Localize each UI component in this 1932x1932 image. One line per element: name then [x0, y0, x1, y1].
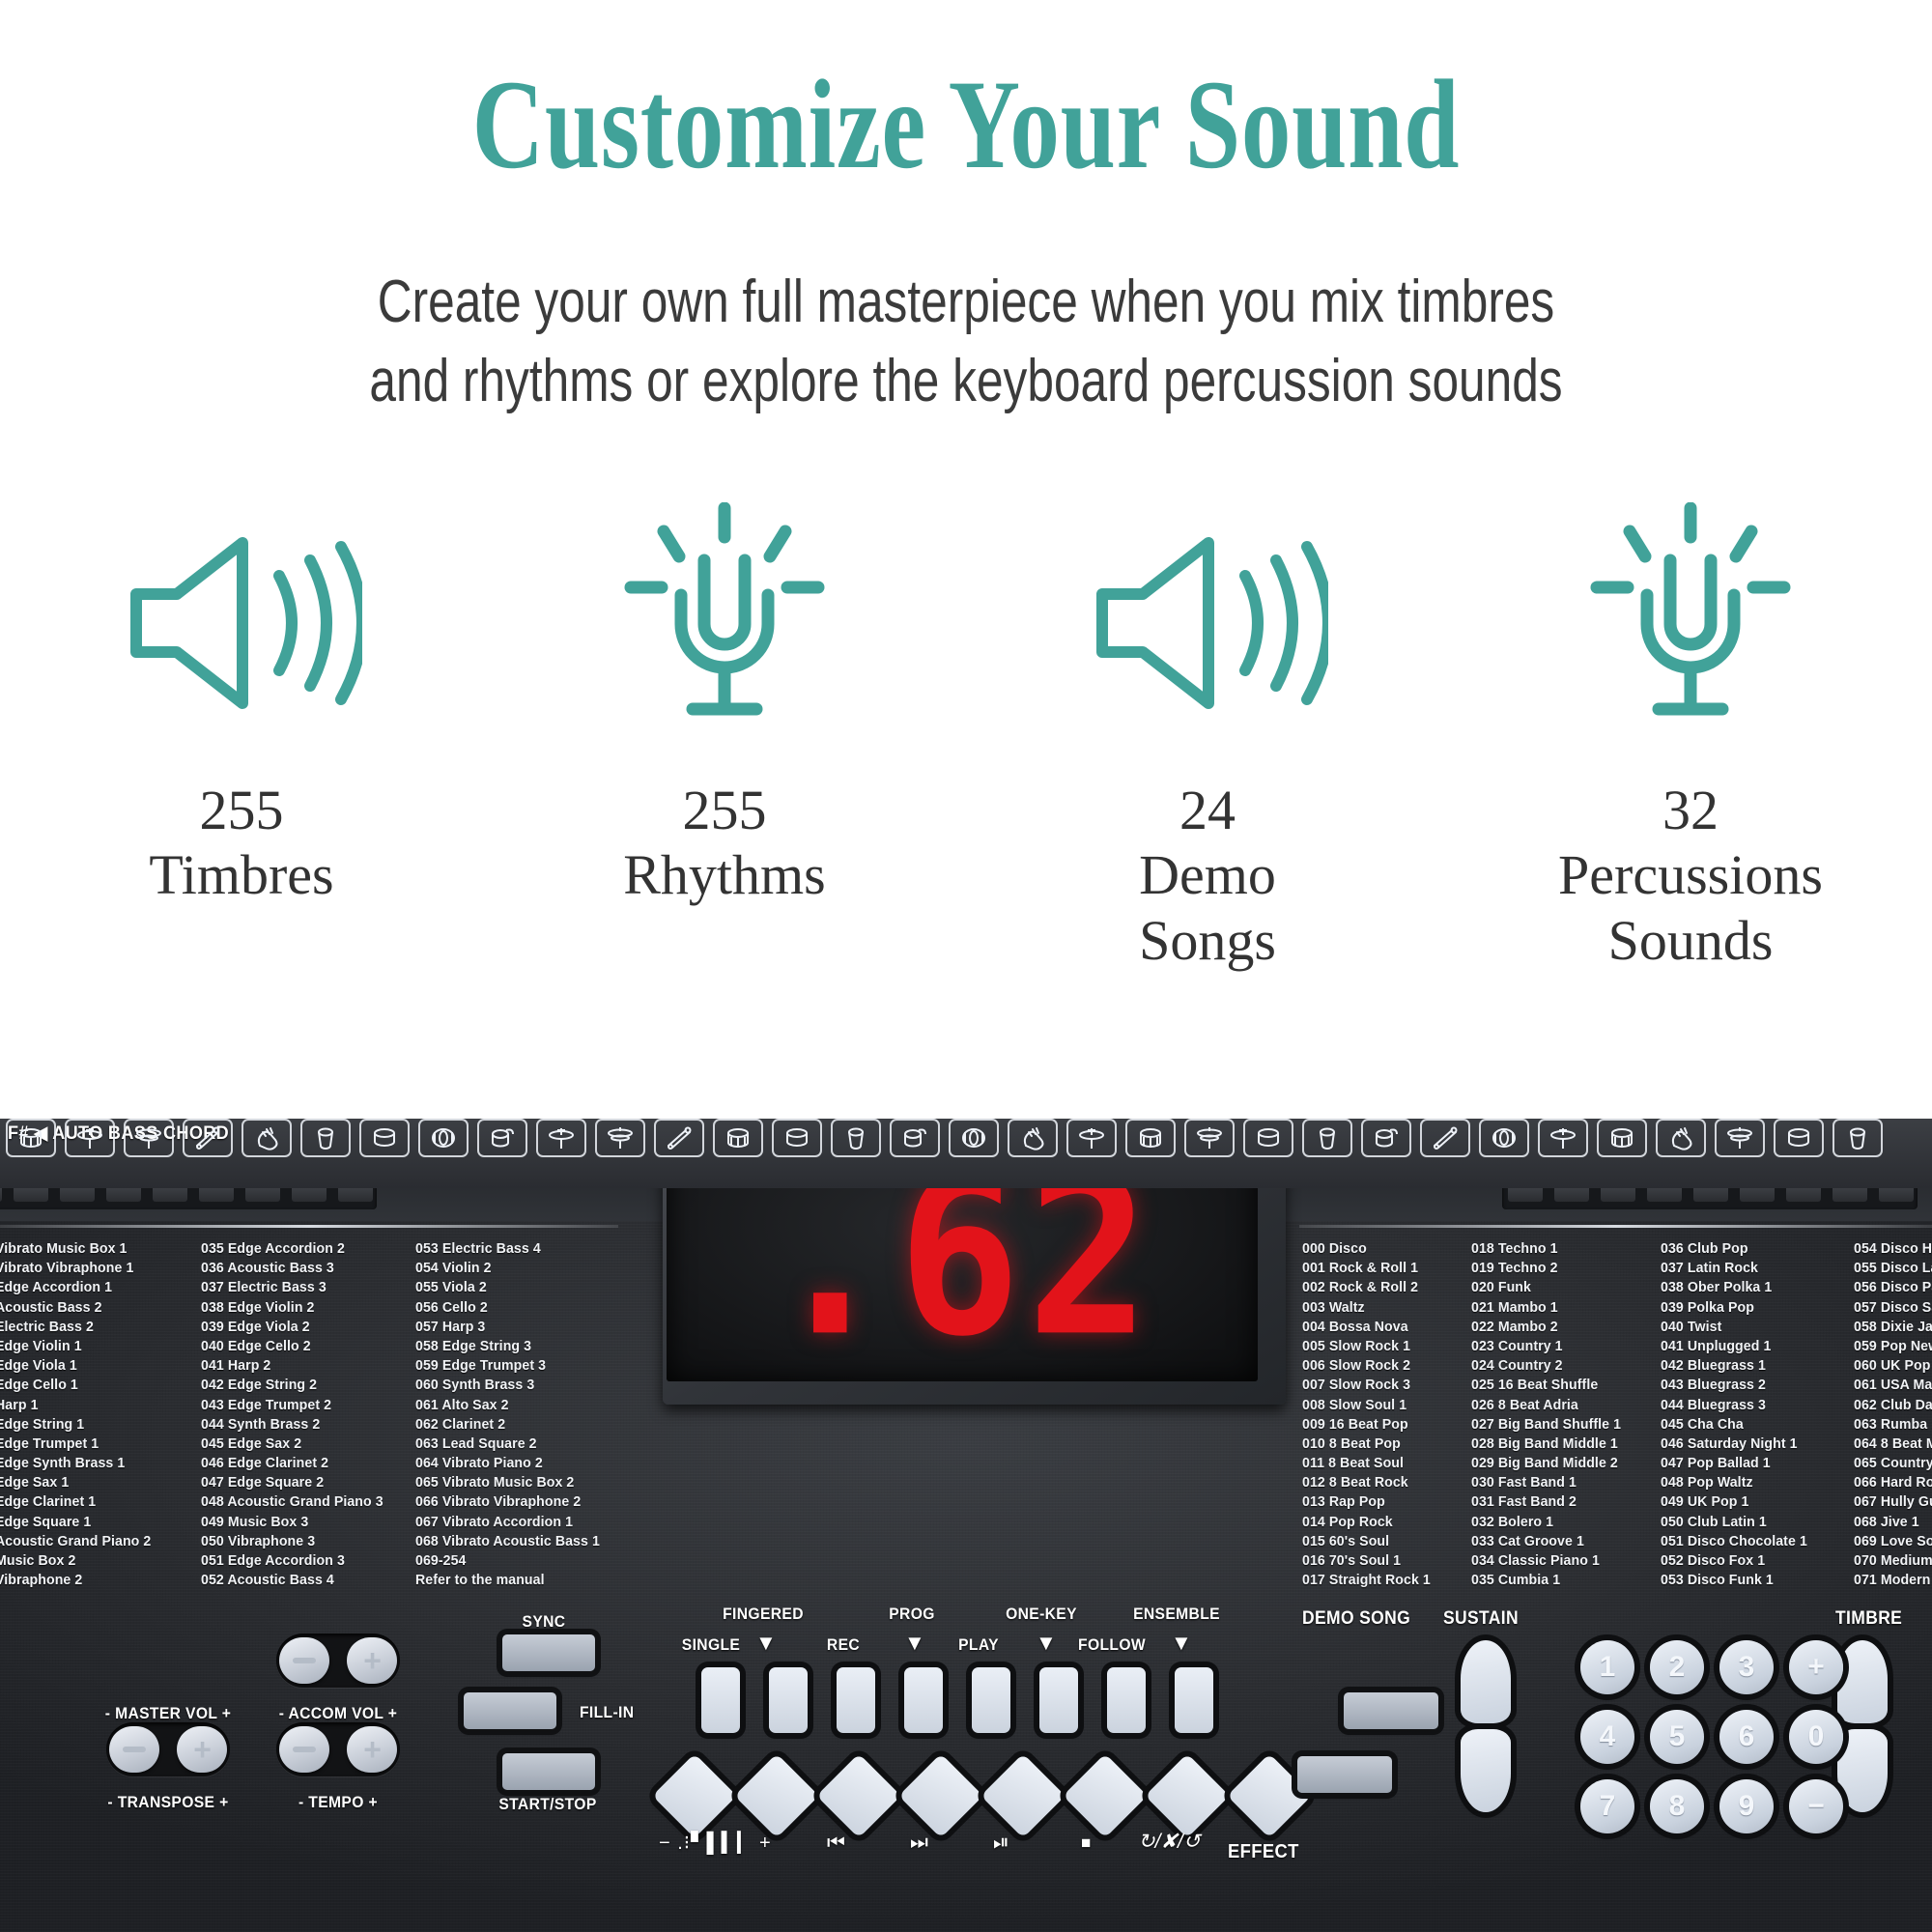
rhythm-entry: 064 8 Beat Modern 1 — [1854, 1435, 1932, 1454]
rhythm-entry: 030 Fast Band 1 — [1471, 1473, 1647, 1492]
play-pause-icon: ⏯ — [993, 1833, 1009, 1853]
sustain-down-button[interactable] — [1461, 1729, 1511, 1812]
timbre-entry: Edge Violin 1 — [0, 1337, 186, 1356]
timbre-entry: Edge Viola 1 — [0, 1356, 186, 1376]
timbre-entry: Acoustic Bass 2 — [0, 1298, 186, 1318]
tom-drum-icon[interactable] — [359, 1119, 410, 1157]
snare-drum-icon[interactable] — [713, 1119, 763, 1157]
conga-icon[interactable] — [300, 1119, 351, 1157]
cymbal-icon[interactable] — [1066, 1119, 1117, 1157]
timbre-entry: 039 Edge Viola 2 — [201, 1318, 400, 1337]
rhythm-entry: 003 Waltz — [1302, 1298, 1460, 1318]
rhythm-entry: 061 USA March 1 — [1854, 1376, 1932, 1395]
timbre-entry: 049 Music Box 3 — [201, 1513, 400, 1532]
feature-label: Demo Songs — [1139, 842, 1276, 973]
rhythm-column: 054 Disco Hands 1055 Disco Latin 1056 Di… — [1854, 1239, 1932, 1590]
cymbal-icon[interactable] — [65, 1119, 115, 1157]
rhythm-entry: 058 Dixie Jazz 1 — [1854, 1318, 1932, 1337]
timbre-entry: 046 Edge Clarinet 2 — [201, 1454, 400, 1473]
chevron-down-icon: ▼ — [904, 1633, 925, 1654]
mode-label-single: SINGLE — [682, 1635, 740, 1655]
rhythm-entry: 013 Rap Pop — [1302, 1492, 1460, 1512]
timbre-entry: 042 Edge String 2 — [201, 1376, 400, 1395]
rhythm-entry: 031 Fast Band 2 — [1471, 1492, 1647, 1512]
timbre-entry: 062 Clarinet 2 — [415, 1415, 622, 1435]
cymbal-icon[interactable] — [1538, 1119, 1588, 1157]
numeric-key-label: 6 — [1739, 1720, 1755, 1753]
snare-drum-icon[interactable] — [1125, 1119, 1176, 1157]
rhythm-entry: 052 Disco Fox 1 — [1661, 1551, 1840, 1571]
previous-track-button[interactable] — [816, 1753, 901, 1838]
timbre-entry: Edge Clarinet 1 — [0, 1492, 186, 1512]
rhythm-entry: 056 Disco Party 1 — [1854, 1278, 1932, 1297]
percussion-icon-strip — [0, 1119, 1932, 1159]
rhythm-entry: 024 Country 2 — [1471, 1356, 1647, 1376]
rhythm-entry: 046 Saturday Night 1 — [1661, 1435, 1840, 1454]
numeric-key-6[interactable]: 6 — [1719, 1710, 1774, 1764]
start-stop-button[interactable] — [502, 1753, 595, 1790]
rhythm-entry: 021 Mambo 1 — [1471, 1298, 1647, 1318]
rhythm-column: 000 Disco001 Rock & Roll 1002 Rock & Rol… — [1302, 1239, 1460, 1590]
mode-button-rec[interactable] — [837, 1667, 875, 1733]
rhythm-entry: 071 Modern Country 1 — [1854, 1571, 1932, 1590]
numeric-key-4[interactable]: 4 — [1580, 1710, 1634, 1764]
timbre-label: TIMBRE — [1835, 1608, 1902, 1630]
hi-hat-icon[interactable] — [124, 1119, 174, 1157]
mode-button-prog[interactable] — [904, 1667, 943, 1733]
next-track-button[interactable] — [898, 1753, 983, 1838]
rhythm-entry: 002 Rock & Roll 2 — [1302, 1278, 1460, 1297]
panel-hairline-left — [0, 1225, 618, 1228]
mode-button-play[interactable] — [972, 1667, 1010, 1733]
rhythm-list-panel: 000 Disco001 Rock & Roll 1002 Rock & Rol… — [1302, 1239, 1932, 1590]
hand-clap-icon[interactable] — [1008, 1119, 1058, 1157]
snare-drum-icon[interactable] — [1597, 1119, 1647, 1157]
feature-count: 255 — [683, 778, 767, 842]
rhythm-entry: 023 Country 1 — [1471, 1337, 1647, 1356]
numeric-key-0[interactable]: 0 — [1789, 1710, 1843, 1764]
timbre-entry: 044 Synth Brass 2 — [201, 1415, 400, 1435]
timbre-entry: 055 Viola 2 — [415, 1278, 622, 1297]
hi-hat-icon[interactable] — [1715, 1119, 1765, 1157]
rhythm-entry: 034 Classic Piano 1 — [1471, 1551, 1647, 1571]
numeric-key-1[interactable]: 1 — [1580, 1640, 1634, 1694]
rhythm-entry: 028 Big Band Middle 1 — [1471, 1435, 1647, 1454]
timbre-down-button[interactable] — [1837, 1729, 1888, 1812]
bongo-icon[interactable] — [890, 1119, 940, 1157]
timbre-entry: Refer to the manual — [415, 1571, 622, 1590]
timbre-entry: 054 Violin 2 — [415, 1259, 622, 1278]
feature-item-demo-songs: 24 Demo Songs — [1000, 502, 1415, 973]
rhythm-entry: 066 Hard Rock 1 — [1854, 1473, 1932, 1492]
mode-label-prog: PROG — [889, 1605, 935, 1624]
start-stop-label: START/STOP — [498, 1795, 596, 1814]
rhythm-column: 018 Techno 1019 Techno 2020 Funk021 Mamb… — [1471, 1239, 1647, 1590]
accom-vol-rocker[interactable] — [276, 1634, 400, 1688]
chevron-down-icon: ▼ — [755, 1633, 777, 1654]
accom-vol-label: - ACCOM VOL + — [279, 1704, 398, 1723]
stick-icon[interactable] — [183, 1119, 233, 1157]
conga-icon[interactable] — [1833, 1119, 1883, 1157]
numeric-key-label: 8 — [1669, 1790, 1686, 1823]
rhythm-entry: 045 Cha Cha — [1661, 1415, 1840, 1435]
previous-track-icon: ⏮ — [827, 1833, 845, 1853]
numeric-key-3[interactable]: 3 — [1719, 1640, 1774, 1694]
tambourine-icon[interactable] — [418, 1119, 469, 1157]
numeric-key-label: 9 — [1739, 1790, 1755, 1823]
keyboard-photo: Vibrato Music Box 1Vibrato Vibraphone 1E… — [0, 1119, 1932, 1932]
rhythm-entry: 047 Pop Ballad 1 — [1661, 1454, 1840, 1473]
rhythm-entry: 059 Pop New Age 1 — [1854, 1337, 1932, 1356]
keyboard-percussion-button[interactable] — [1297, 1756, 1392, 1793]
feature-count: 24 — [1179, 778, 1236, 842]
feature-label: Rhythms — [623, 842, 826, 907]
timbre-column: 035 Edge Accordion 2036 Acoustic Bass 30… — [201, 1239, 400, 1590]
feature-label: Timbres — [149, 842, 333, 907]
timbre-entry: Edge Cello 1 — [0, 1376, 186, 1395]
rhythm-entry: 041 Unplugged 1 — [1661, 1337, 1840, 1356]
timbre-entry: 064 Vibrato Piano 2 — [415, 1454, 622, 1473]
panel-hairline-right — [1299, 1225, 1932, 1228]
microphone-icon — [604, 502, 845, 744]
timbre-entry: 059 Edge Trumpet 3 — [415, 1356, 622, 1376]
hero-section: Customize Your Sound Create your own ful… — [0, 0, 1932, 1119]
rhythm-entry: 019 Techno 2 — [1471, 1259, 1647, 1278]
timbre-entry: Vibrato Music Box 1 — [0, 1239, 186, 1259]
timbre-entry: 052 Acoustic Bass 4 — [201, 1571, 400, 1590]
master-vol-label: - MASTER VOL + — [105, 1704, 231, 1723]
timbre-entry: Vibrato Vibraphone 1 — [0, 1259, 186, 1278]
fill-in-label: FILL-IN — [580, 1703, 634, 1722]
timbre-entry: 038 Edge Violin 2 — [201, 1298, 400, 1318]
numeric-key-label: 0 — [1808, 1720, 1825, 1753]
rhythm-entry: 022 Mambo 2 — [1471, 1318, 1647, 1337]
stop-icon: ■ — [1081, 1834, 1091, 1851]
mode-label-one-key: ONE-KEY — [1006, 1605, 1077, 1624]
timbre-entry: 067 Vibrato Accordion 1 — [415, 1513, 622, 1532]
rhythm-entry: 063 Rumba 1 — [1854, 1415, 1932, 1435]
page-title: Customize Your Sound — [213, 53, 1719, 196]
timbre-entry: Music Box 2 — [0, 1551, 186, 1571]
mode-label-play: PLAY — [958, 1635, 999, 1655]
rhythm-entry: 011 8 Beat Soul — [1302, 1454, 1460, 1473]
timbre-entry: 065 Vibrato Music Box 2 — [415, 1473, 622, 1492]
timbre-entry: 061 Alto Sax 2 — [415, 1396, 622, 1415]
timbre-entry: 053 Electric Bass 4 — [415, 1239, 622, 1259]
rhythm-entry: 038 Ober Polka 1 — [1661, 1278, 1840, 1297]
repeat-mode-button[interactable] — [1145, 1753, 1230, 1838]
stick-icon[interactable] — [1420, 1119, 1470, 1157]
rhythm-entry: 048 Pop Waltz — [1661, 1473, 1840, 1492]
rhythm-entry: 018 Techno 1 — [1471, 1239, 1647, 1259]
timbre-entry: 036 Acoustic Bass 3 — [201, 1259, 400, 1278]
timbre-entry: 045 Edge Sax 2 — [201, 1435, 400, 1454]
timbre-entry: 041 Harp 2 — [201, 1356, 400, 1376]
rhythm-entry: 049 UK Pop 1 — [1661, 1492, 1840, 1512]
hand-clap-icon[interactable] — [241, 1119, 292, 1157]
timbre-entry: 050 Vibraphone 3 — [201, 1532, 400, 1551]
bongo-icon[interactable] — [477, 1119, 527, 1157]
mode-button-fingered[interactable] — [769, 1667, 808, 1733]
rhythm-entry: 014 Pop Rock — [1302, 1513, 1460, 1532]
rhythm-entry: 062 Club Dance 1 — [1854, 1396, 1932, 1415]
timbre-entry: 037 Electric Bass 3 — [201, 1278, 400, 1297]
chevron-down-icon: ▼ — [1171, 1633, 1192, 1654]
stick-icon[interactable] — [654, 1119, 704, 1157]
rhythm-entry: 057 Disco Samba 1 — [1854, 1298, 1932, 1318]
conga-icon[interactable] — [1302, 1119, 1352, 1157]
hi-hat-icon[interactable] — [595, 1119, 645, 1157]
timbre-entry: 057 Harp 3 — [415, 1318, 622, 1337]
timbre-entry: Edge Trumpet 1 — [0, 1435, 186, 1454]
timbre-entry: Edge Synth Brass 1 — [0, 1454, 186, 1473]
numeric-key-label: 5 — [1669, 1720, 1686, 1753]
rhythm-entry: 050 Club Latin 1 — [1661, 1513, 1840, 1532]
volume-down-diamond-button[interactable] — [652, 1753, 737, 1838]
rhythm-entry: 025 16 Beat Shuffle — [1471, 1376, 1647, 1395]
hi-hat-icon[interactable] — [1184, 1119, 1235, 1157]
rhythm-column: 036 Club Pop037 Latin Rock038 Ober Polka… — [1661, 1239, 1840, 1590]
metronome-button[interactable] — [1344, 1692, 1438, 1729]
transpose-rocker[interactable] — [106, 1722, 230, 1776]
mode-label-ensemble: ENSEMBLE — [1133, 1605, 1220, 1624]
rhythm-entry: 010 8 Beat Pop — [1302, 1435, 1460, 1454]
timbre-entry: 048 Acoustic Grand Piano 3 — [201, 1492, 400, 1512]
speaker-waves-icon — [121, 502, 362, 744]
feature-list: 255 Timbres 255 Rhythms — [0, 502, 1932, 973]
rhythm-entry: 012 8 Beat Rock — [1302, 1473, 1460, 1492]
timbre-up-button[interactable] — [1837, 1640, 1888, 1723]
rhythm-entry: 051 Disco Chocolate 1 — [1661, 1532, 1840, 1551]
timbre-entry: Edge Accordion 1 — [0, 1278, 186, 1297]
mode-button-one-key[interactable] — [1039, 1667, 1078, 1733]
snare-drum-icon[interactable] — [6, 1119, 56, 1157]
timbre-entry: 043 Edge Trumpet 2 — [201, 1396, 400, 1415]
hand-clap-icon[interactable] — [1656, 1119, 1706, 1157]
cymbal-icon[interactable] — [536, 1119, 586, 1157]
numeric-key-label: 7 — [1600, 1790, 1616, 1823]
timbre-entry: 058 Edge String 3 — [415, 1337, 622, 1356]
numeric-key-plus[interactable]: + — [1789, 1640, 1843, 1694]
rhythm-entry: 065 Country Ballad 1 — [1854, 1454, 1932, 1473]
mode-label-fingered: FINGERED — [723, 1605, 804, 1624]
tom-drum-icon[interactable] — [772, 1119, 822, 1157]
numeric-key-8[interactable]: 8 — [1650, 1779, 1704, 1833]
timbre-entry: 066 Vibrato Vibraphone 2 — [415, 1492, 622, 1512]
rhythm-entry: 067 Hully Gully 1 — [1854, 1492, 1932, 1512]
rhythm-entry: 026 8 Beat Adria — [1471, 1396, 1647, 1415]
tambourine-icon[interactable] — [1479, 1119, 1529, 1157]
rhythm-entry: 040 Twist — [1661, 1318, 1840, 1337]
feature-item-timbres: 255 Timbres — [34, 502, 449, 908]
repeat-shuffle-icon: ↻/✘/↺ — [1138, 1832, 1200, 1852]
timbre-entry: 040 Edge Cello 2 — [201, 1337, 400, 1356]
timbre-entry: 068 Vibrato Acoustic Bass 1 — [415, 1532, 622, 1551]
timbre-entry: 051 Edge Accordion 3 — [201, 1551, 400, 1571]
rhythm-entry: 037 Latin Rock — [1661, 1259, 1840, 1278]
numeric-key-5[interactable]: 5 — [1650, 1710, 1704, 1764]
rhythm-entry: 027 Big Band Shuffle 1 — [1471, 1415, 1647, 1435]
rhythm-entry: 006 Slow Rock 2 — [1302, 1356, 1460, 1376]
rhythm-entry: 069 Love Song 1 — [1854, 1532, 1932, 1551]
mode-label-rec: REC — [827, 1635, 860, 1655]
rhythm-entry: 009 16 Beat Pop — [1302, 1415, 1460, 1435]
page-subtitle: Create your own full masterpiece when yo… — [294, 263, 1638, 421]
demo-song-label: DEMO SONG — [1302, 1608, 1410, 1630]
sustain-label: SUSTAIN — [1443, 1608, 1519, 1630]
rhythm-entry: 035 Cumbia 1 — [1471, 1571, 1647, 1590]
transpose-label: - TRANSPOSE + — [107, 1793, 228, 1812]
rhythm-entry: 001 Rock & Roll 1 — [1302, 1259, 1460, 1278]
next-track-icon: ⏭ — [910, 1833, 928, 1853]
sustain-up-button[interactable] — [1461, 1640, 1511, 1723]
timbre-entry: Acoustic Grand Piano 2 — [0, 1532, 186, 1551]
numeric-key-label: 3 — [1739, 1651, 1755, 1684]
keybed-strip: F# ◀ AUTO BASS CHORD — [0, 1119, 1932, 1188]
effect-label: EFFECT — [1228, 1841, 1299, 1863]
numeric-key-label: − — [1807, 1790, 1825, 1823]
rhythm-entry: 008 Slow Soul 1 — [1302, 1396, 1460, 1415]
rhythm-entry: 055 Disco Latin 1 — [1854, 1259, 1932, 1278]
rhythm-entry: 042 Bluegrass 1 — [1661, 1356, 1840, 1376]
bongo-icon[interactable] — [1361, 1119, 1411, 1157]
rhythm-entry: 036 Club Pop — [1661, 1239, 1840, 1259]
feature-item-percussion-sounds: 32 Percussions Sounds — [1483, 502, 1898, 973]
timbre-list-panel: Vibrato Music Box 1Vibrato Vibraphone 1E… — [0, 1239, 638, 1590]
chevron-down-icon: ▼ — [1036, 1633, 1057, 1654]
numeric-key-9[interactable]: 9 — [1719, 1779, 1774, 1833]
sync-label: SYNC — [523, 1612, 566, 1632]
rhythm-entry: 070 Medium Jazz 1 — [1854, 1551, 1932, 1571]
timbre-column: 053 Electric Bass 4054 Violin 2055 Viola… — [415, 1239, 622, 1590]
tambourine-icon[interactable] — [949, 1119, 999, 1157]
rhythm-entry: 068 Jive 1 — [1854, 1513, 1932, 1532]
timbre-entry: Harp 1 — [0, 1396, 186, 1415]
rhythm-entry: 029 Big Band Middle 2 — [1471, 1454, 1647, 1473]
volume-up-diamond-button[interactable] — [734, 1753, 819, 1838]
timbre-entry: Vibraphone 2 — [0, 1571, 186, 1590]
numeric-key-2[interactable]: 2 — [1650, 1640, 1704, 1694]
timbre-entry: Edge Square 1 — [0, 1513, 186, 1532]
timbre-entry: 047 Edge Square 2 — [201, 1473, 400, 1492]
tom-drum-icon[interactable] — [1243, 1119, 1293, 1157]
play-pause-button[interactable] — [980, 1753, 1065, 1838]
rhythm-entry: 044 Bluegrass 3 — [1661, 1396, 1840, 1415]
timbre-entry: 060 Synth Brass 3 — [415, 1376, 622, 1395]
timbre-entry: 056 Cello 2 — [415, 1298, 622, 1318]
speaker-waves-icon — [1087, 502, 1328, 744]
feature-item-rhythms: 255 Rhythms — [517, 502, 932, 908]
sync-button[interactable] — [502, 1634, 595, 1671]
conga-icon[interactable] — [831, 1119, 881, 1157]
numeric-key-label: 1 — [1600, 1651, 1616, 1684]
rhythm-entry: 032 Bolero 1 — [1471, 1513, 1647, 1532]
mode-button-ensemble[interactable] — [1175, 1667, 1213, 1733]
numeric-key-7[interactable]: 7 — [1580, 1779, 1634, 1833]
volume-scale-icon: − .⁝▘▌▍▎ + — [659, 1833, 772, 1853]
numeric-key-label: 4 — [1600, 1720, 1616, 1753]
numeric-key-minus[interactable]: − — [1789, 1779, 1843, 1833]
rhythm-entry: 007 Slow Rock 3 — [1302, 1376, 1460, 1395]
mode-button-single[interactable] — [701, 1667, 740, 1733]
rhythm-entry: 004 Bossa Nova — [1302, 1318, 1460, 1337]
feature-label: Percussions Sounds — [1558, 842, 1823, 973]
rhythm-entry: 043 Bluegrass 2 — [1661, 1376, 1840, 1395]
fill-in-button[interactable] — [464, 1692, 556, 1729]
rhythm-entry: 015 60's Soul — [1302, 1532, 1460, 1551]
timbre-entry: 063 Lead Square 2 — [415, 1435, 622, 1454]
tempo-label: - TEMPO + — [298, 1793, 378, 1812]
timbre-entry: 069-254 — [415, 1551, 622, 1571]
mode-button-follow[interactable] — [1107, 1667, 1146, 1733]
rhythm-entry: 053 Disco Funk 1 — [1661, 1571, 1840, 1590]
rhythm-entry: 017 Straight Rock 1 — [1302, 1571, 1460, 1590]
feature-count: 32 — [1662, 778, 1719, 842]
tom-drum-icon[interactable] — [1774, 1119, 1824, 1157]
rhythm-entry: 054 Disco Hands 1 — [1854, 1239, 1932, 1259]
numeric-key-label: 2 — [1669, 1651, 1686, 1684]
tempo-rocker[interactable] — [276, 1722, 400, 1776]
timbre-entry: Edge String 1 — [0, 1415, 186, 1435]
timbre-entry: 035 Edge Accordion 2 — [201, 1239, 400, 1259]
rhythm-entry: 005 Slow Rock 1 — [1302, 1337, 1460, 1356]
stop-button[interactable] — [1063, 1753, 1148, 1838]
rhythm-entry: 000 Disco — [1302, 1239, 1460, 1259]
timbre-entry: Electric Bass 2 — [0, 1318, 186, 1337]
feature-count: 255 — [200, 778, 284, 842]
numeric-key-label: + — [1807, 1651, 1825, 1684]
rhythm-entry: 020 Funk — [1471, 1278, 1647, 1297]
rhythm-entry: 016 70's Soul 1 — [1302, 1551, 1460, 1571]
rhythm-entry: 060 UK Pop 2 — [1854, 1356, 1932, 1376]
rhythm-entry: 033 Cat Groove 1 — [1471, 1532, 1647, 1551]
timbre-entry: Edge Sax 1 — [0, 1473, 186, 1492]
mode-label-follow: FOLLOW — [1078, 1635, 1146, 1655]
timbre-column: Vibrato Music Box 1Vibrato Vibraphone 1E… — [0, 1239, 186, 1590]
microphone-icon — [1570, 502, 1811, 744]
rhythm-entry: 039 Polka Pop — [1661, 1298, 1840, 1318]
